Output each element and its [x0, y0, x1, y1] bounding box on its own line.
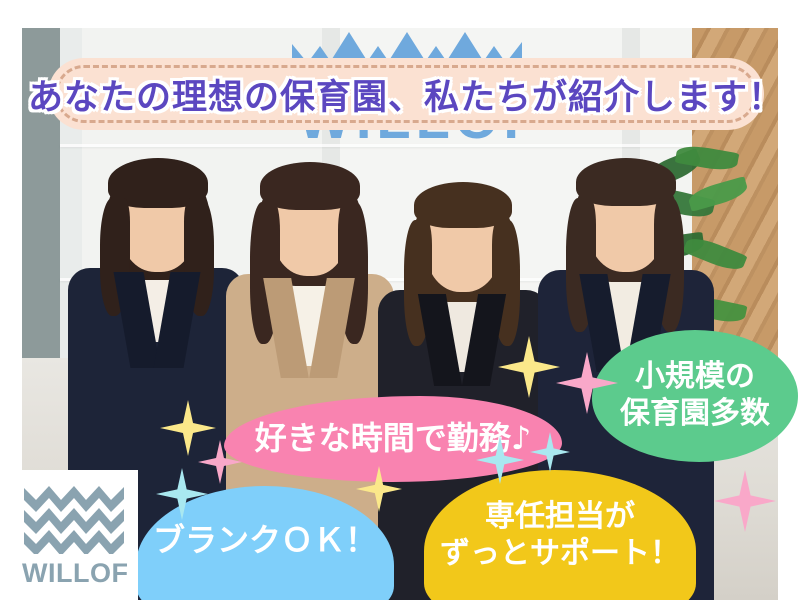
willof-brand-text: WILLOF [22, 558, 128, 589]
willof-logo-card: WILLOF [8, 470, 138, 600]
zigzag-rows-icon [24, 486, 124, 554]
poster-canvas: WILLOF [0, 0, 800, 600]
sparkle-icon [156, 468, 208, 520]
sparkle-icon [356, 466, 402, 512]
sparkle-icon [714, 470, 776, 532]
sparkle-icon [476, 436, 524, 484]
sparkle-icon [498, 336, 560, 398]
banner-text: あなたの理想の保育園、私たちが紹介します！ [48, 58, 764, 130]
headline-banner: あなたの理想の保育園、私たちが紹介します！ [48, 58, 764, 130]
sparkle-icon [530, 432, 570, 472]
sparkle-icon [556, 352, 618, 414]
willof-zigzag-icon [24, 486, 124, 554]
bubble-small-nurseries: 小規模の 保育園多数 [592, 330, 798, 462]
